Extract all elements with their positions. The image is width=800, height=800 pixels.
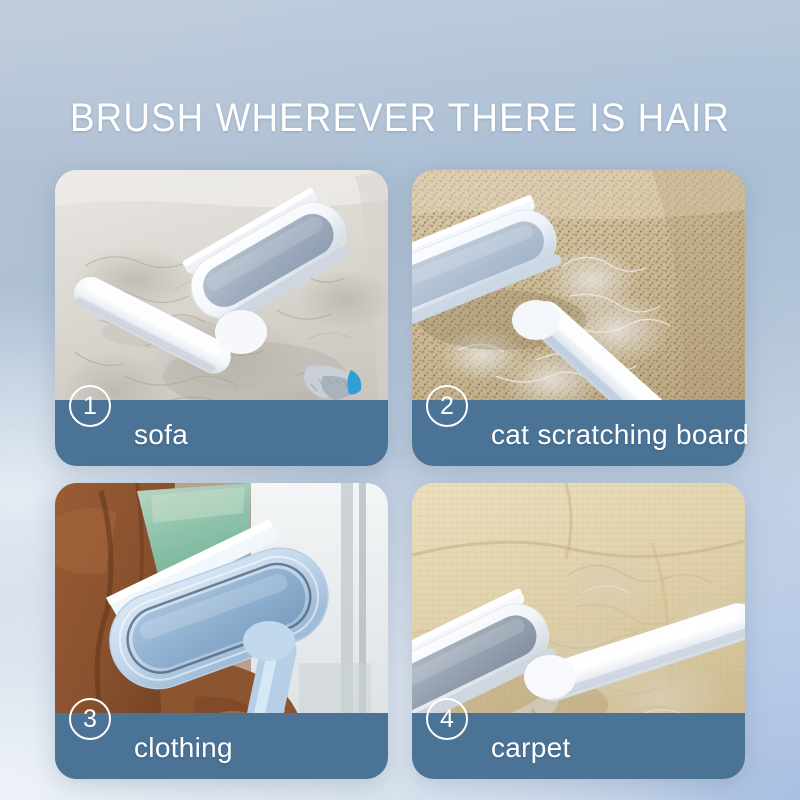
panel-badge-1: 1 xyxy=(69,385,111,427)
panel-label-sofa: sofa xyxy=(134,420,188,450)
page-title: BRUSH WHEREVER THERE IS HAIR xyxy=(70,96,730,140)
panel-label-cat-scratching-board: cat scratching board xyxy=(491,420,749,450)
panel-caption-carpet: 4 carpet xyxy=(412,713,745,779)
usage-panel-cat-scratching-board[interactable]: 2 cat scratching board xyxy=(412,170,745,466)
usage-panel-sofa[interactable]: 1 sofa xyxy=(55,170,388,466)
usage-panel-carpet[interactable]: 4 carpet xyxy=(412,483,745,779)
usage-panel-clothing[interactable]: 3 clothing xyxy=(55,483,388,779)
panel-caption-clothing: 3 clothing xyxy=(55,713,388,779)
panel-badge-2: 2 xyxy=(426,385,468,427)
panel-label-carpet: carpet xyxy=(491,733,571,763)
panel-caption-cat-scratching-board: 2 cat scratching board xyxy=(412,400,745,466)
panel-label-clothing: clothing xyxy=(134,733,233,763)
panel-badge-3: 3 xyxy=(69,698,111,740)
usage-panel-grid: 1 sofa xyxy=(55,170,745,770)
panel-caption-sofa: 1 sofa xyxy=(55,400,388,466)
panel-badge-4: 4 xyxy=(426,698,468,740)
